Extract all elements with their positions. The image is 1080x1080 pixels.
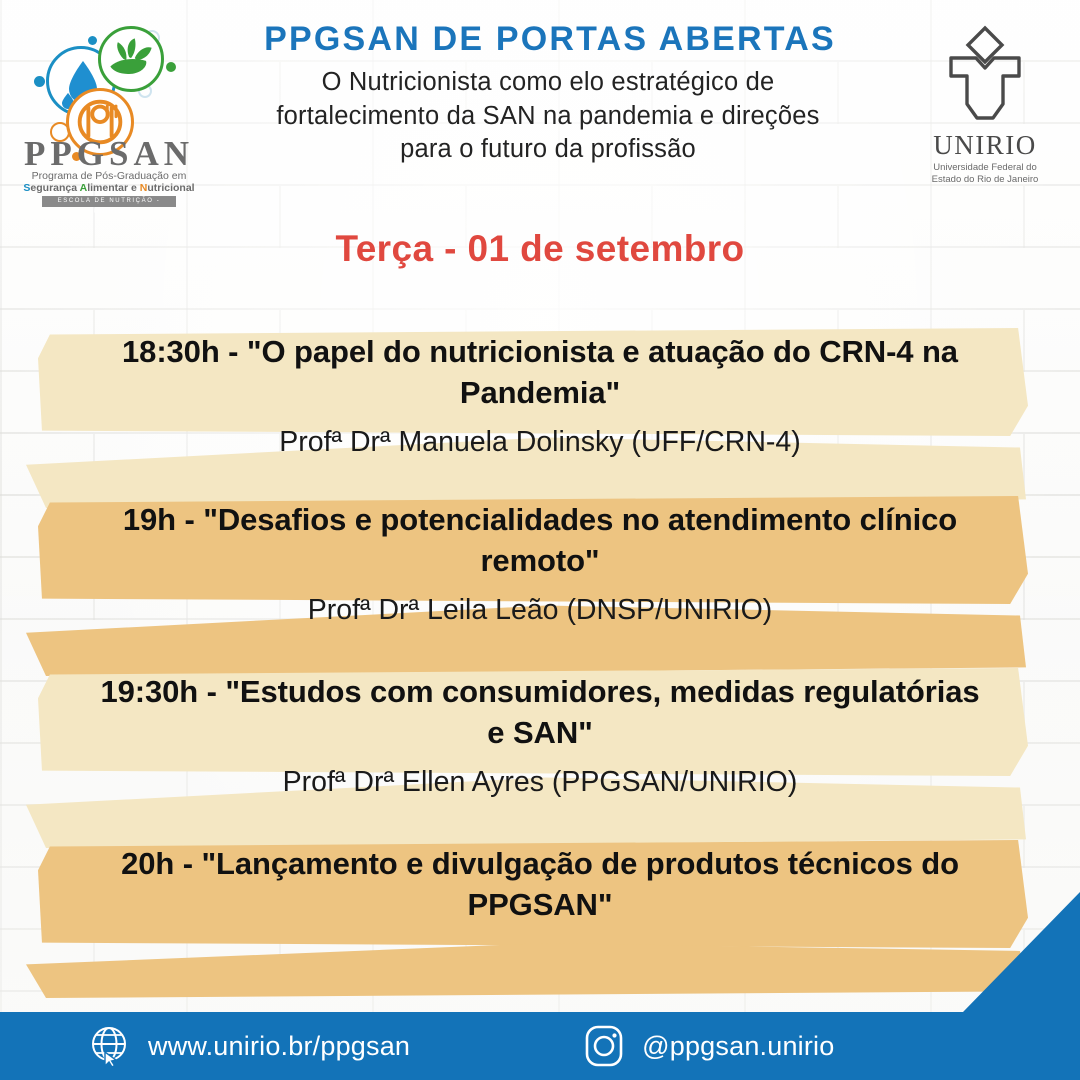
logo-dot-green [166,62,176,72]
session-title: 19:30h - "Estudos com consumidores, medi… [0,672,1080,754]
session-title: 19h - "Desafios e potencialidades no ate… [0,500,1080,582]
ppgsan-logo-line2: Segurança Alimentar e Nutricional [14,182,204,194]
subtitle-line-2: fortalecimento da SAN na pandemia e dire… [196,100,900,134]
unirio-logo-caption: Universidade Federal do Estado do Rio de… [910,162,1060,185]
logo-dot-blue-2 [88,36,97,45]
unirio-caption-line1: Universidade Federal do [910,162,1060,174]
session-item: 19h - "Desafios e potencialidades no ate… [0,486,1080,658]
unirio-logo: UNIRIO Universidade Federal do Estado do… [910,22,1060,182]
session-item: 19:30h - "Estudos com consumidores, medi… [0,658,1080,830]
session-title: 18:30h - "O papel do nutricionista e atu… [0,332,1080,414]
logo-dot-blue [34,76,45,87]
poster-header: PPGSAN Programa de Pós-Graduação em Segu… [0,0,1080,200]
session-item: 20h - "Lançamento e divulgação de produt… [0,830,1080,970]
subtitle-line-1: O Nutricionista como elo estratégico de [196,66,900,100]
session-speaker-band [26,942,1026,998]
event-poster: PPGSAN Programa de Pós-Graduação em Segu… [0,0,1080,1080]
session-text: 19h - "Desafios e potencialidades no ate… [0,486,1080,629]
session-speaker: Profª Drª Manuela Dolinsky (UFF/CRN-4) [0,424,1080,461]
ppgsan-logo-banner: ESCOLA DE NUTRIÇÃO - UNIRIO [42,196,176,207]
session-text: 20h - "Lançamento e divulgação de produt… [0,830,1080,926]
website-label: www.unirio.br/ppgsan [148,1031,410,1062]
instagram-link[interactable]: @ppgsan.unirio [582,1024,834,1068]
unirio-wordmark: UNIRIO [910,132,1060,159]
session-item: 18:30h - "O papel do nutricionista e atu… [0,318,1080,486]
ppgsan-wordmark: PPGSAN [14,136,204,171]
page-title: PPGSAN DE PORTAS ABERTAS [200,22,900,58]
ppgsan-logo: PPGSAN Programa de Pós-Graduação em Segu… [14,18,204,190]
date-heading: Terça - 01 de setembro [0,228,1080,270]
subtitle-line-3: para o futuro da profissão [196,133,900,167]
session-text: 18:30h - "O papel do nutricionista e atu… [0,318,1080,461]
instagram-label: @ppgsan.unirio [642,1031,834,1062]
page-subtitle: O Nutricionista como elo estratégico de … [196,66,900,167]
instagram-icon [582,1024,626,1068]
session-speaker: Profª Drª Leila Leão (DNSP/UNIRIO) [0,592,1080,629]
session-text: 19:30h - "Estudos com consumidores, medi… [0,658,1080,801]
plant-hand-icon [98,26,164,92]
session-title: 20h - "Lançamento e divulgação de produt… [0,844,1080,926]
session-list: 18:30h - "O papel do nutricionista e atu… [0,318,1080,970]
unirio-caption-line2: Estado do Rio de Janeiro [910,174,1060,186]
ppgsan-logo-line1: Programa de Pós-Graduação em [14,170,204,182]
globe-cursor-icon [88,1024,132,1068]
website-link[interactable]: www.unirio.br/ppgsan [88,1024,410,1068]
footer-bar: www.unirio.br/ppgsan @ppgsan.unirio [0,1012,1080,1080]
session-speaker: Profª Drª Ellen Ayres (PPGSAN/UNIRIO) [0,764,1080,801]
